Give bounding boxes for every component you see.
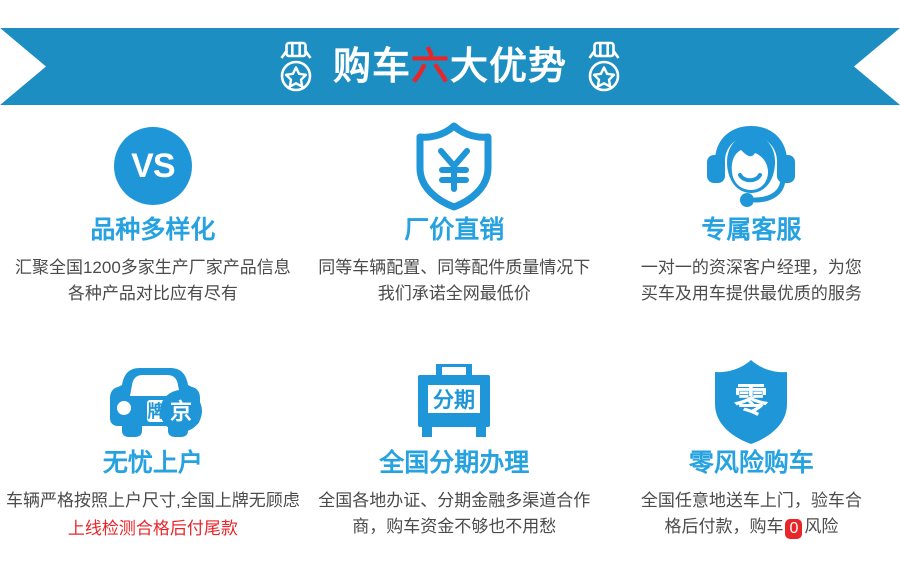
medal-icon — [583, 41, 625, 93]
desc-line-1: 全国任意地送车上门，验车合 — [641, 488, 862, 514]
shield-zero-icon: 零 — [708, 356, 794, 448]
feature-title: 零风险购车 — [689, 451, 814, 476]
features-grid: VS 品种多样化 汇聚全国1200多家生产厂家产品信息 各种产品对比应有尽有 — [0, 110, 900, 588]
zero-badge: 0 — [785, 519, 802, 539]
briefcase-installment-icon: 分期 — [406, 362, 502, 442]
feature-title: 厂价直销 — [404, 218, 504, 243]
feature-icon-wrap: 分期 — [406, 349, 502, 455]
headset-agent-icon — [703, 120, 799, 212]
feature-description: 同等车辆配置、同等配件质量情况下 我们承诺全网最低价 — [318, 255, 590, 308]
desc-line-1: 汇聚全国1200多家生产厂家产品信息 — [15, 255, 291, 281]
feature-description: 全国任意地送车上门，验车合 格后付款，购车0风险 — [641, 488, 862, 541]
medal-icon — [275, 41, 317, 93]
desc-prefix: 格后付款，购车 — [664, 517, 783, 536]
ribbon-content: 购车六大优势 — [0, 28, 900, 105]
desc-line-2: 买车及用车提供最优质的服务 — [641, 281, 862, 307]
feature-icon-wrap: VS — [114, 110, 192, 222]
title-prefix: 购车 — [333, 46, 411, 88]
feature-title: 品种多样化 — [90, 218, 215, 243]
desc-line-1: 全国各地办证、分期金融多渠道合作 — [318, 488, 590, 514]
page-title: 购车六大优势 — [333, 48, 567, 86]
desc-line-2: 各种产品对比应有尽有 — [15, 281, 291, 307]
feature-note: 上线检测合格后付尾款 — [68, 516, 238, 542]
shield-yuan-icon — [411, 120, 497, 212]
feature-icon-wrap — [411, 110, 497, 222]
svg-text:分期: 分期 — [433, 389, 475, 412]
feature-title: 无忧上户 — [103, 451, 203, 476]
feature-card-dedicated-service[interactable]: 专属客服 一对一的资深客户经理，为您 买车及用车提供最优质的服务 — [603, 110, 900, 349]
feature-description: 一对一的资深客户经理，为您 买车及用车提供最优质的服务 — [641, 255, 862, 308]
feature-title: 全国分期办理 — [379, 451, 529, 476]
desc-line-2: 格后付款，购车0风险 — [641, 514, 862, 540]
feature-description: 汇聚全国1200多家生产厂家产品信息 各种产品对比应有尽有 — [15, 255, 291, 308]
feature-card-variety[interactable]: VS 品种多样化 汇聚全国1200多家生产厂家产品信息 各种产品对比应有尽有 — [0, 110, 306, 349]
feature-card-zero-risk[interactable]: 零 零风险购车 全国任意地送车上门，验车合 格后付款，购车0风险 — [603, 349, 900, 588]
svg-text:京: 京 — [170, 399, 192, 424]
feature-icon-wrap: 牌 京 — [100, 349, 206, 455]
car-plate-icon: 牌 京 — [100, 363, 206, 441]
feature-icon-wrap: 零 — [708, 349, 794, 455]
desc-line-1: 同等车辆配置、同等配件质量情况下 — [318, 255, 590, 281]
vs-icon-label: VS — [131, 149, 174, 183]
title-suffix: 大优势 — [450, 46, 567, 88]
title-highlight: 六 — [411, 46, 450, 88]
feature-card-installment[interactable]: 分期 全国分期办理 全国各地办证、分期金融多渠道合作 商，购车资金不够也不用愁 — [306, 349, 603, 588]
header-ribbon: 购车六大优势 — [0, 28, 900, 105]
feature-title: 专属客服 — [701, 218, 801, 243]
vs-circle-icon: VS — [114, 127, 192, 205]
desc-line-1: 一对一的资深客户经理，为您 — [641, 255, 862, 281]
feature-card-factory-price[interactable]: 厂价直销 同等车辆配置、同等配件质量情况下 我们承诺全网最低价 — [306, 110, 603, 349]
promo-banner-page: 购车六大优势 VS 品种多样化 — [0, 0, 900, 588]
feature-icon-wrap — [703, 110, 799, 222]
feature-description: 车辆严格按照上户尺寸,全国上牌无顾虑 — [6, 488, 300, 514]
feature-card-registration[interactable]: 牌 京 无忧上户 车辆严格按照上户尺寸,全国上牌无顾虑 上线检测合格后付尾款 — [0, 349, 306, 588]
desc-suffix: 风险 — [804, 517, 838, 536]
desc-line-2: 商，购车资金不够也不用愁 — [318, 514, 590, 540]
feature-description: 全国各地办证、分期金融多渠道合作 商，购车资金不够也不用愁 — [318, 488, 590, 541]
svg-text:零: 零 — [734, 382, 769, 420]
desc-line-1: 车辆严格按照上户尺寸,全国上牌无顾虑 — [6, 488, 300, 514]
desc-line-2: 我们承诺全网最低价 — [318, 281, 590, 307]
